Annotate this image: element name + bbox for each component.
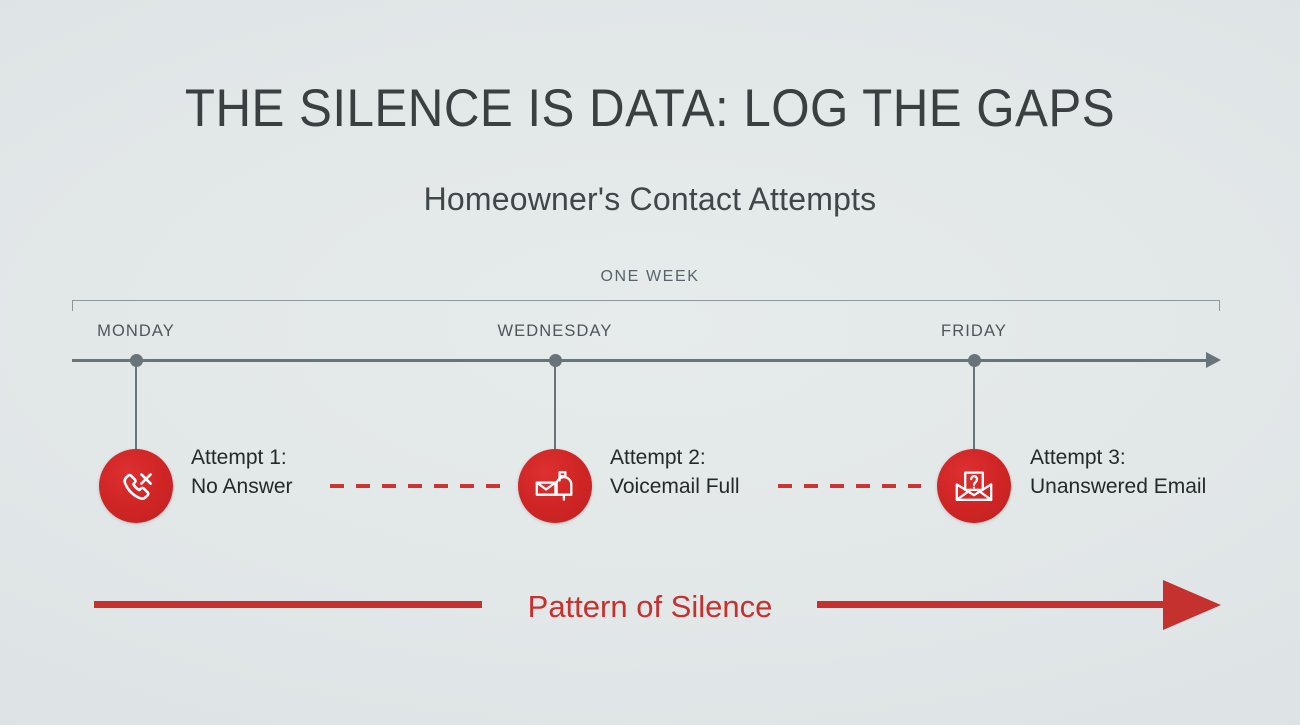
attempt-marker-2[interactable] — [518, 449, 592, 523]
day-label-monday: MONDAY — [97, 322, 175, 341]
timeline-span-label: ONE WEEK — [0, 268, 1300, 286]
attempt-marker-3[interactable] — [937, 449, 1011, 523]
timeline-drop-line-monday — [135, 361, 137, 450]
infographic-canvas: THE SILENCE IS DATA: LOG THE GAPS Homeow… — [0, 0, 1300, 725]
dashed-connector-1 — [330, 484, 512, 488]
attempt-label-2: Attempt 2: Voicemail Full — [610, 443, 740, 501]
timeline-span-bracket — [72, 300, 1220, 311]
page-subtitle: Homeowner's Contact Attempts — [0, 181, 1300, 218]
dashed-connector-2 — [778, 484, 921, 488]
attempt-label-1-line1: Attempt 1: — [191, 446, 287, 469]
attempt-label-3-line1: Attempt 3: — [1030, 446, 1126, 469]
attempt-label-3: Attempt 3: Unanswered Email — [1030, 443, 1206, 501]
timeline-drop-line-friday — [973, 361, 975, 450]
timeline-drop-line-wednesday — [554, 361, 556, 450]
attempt-label-1: Attempt 1: No Answer — [191, 443, 293, 501]
timeline-axis-arrow-icon — [1206, 352, 1221, 368]
pattern-banner-label: Pattern of Silence — [0, 589, 1300, 625]
attempt-label-3-line2: Unanswered Email — [1030, 472, 1206, 501]
attempt-label-1-line2: No Answer — [191, 472, 293, 501]
day-label-wednesday: WEDNESDAY — [497, 322, 612, 341]
page-title: THE SILENCE IS DATA: LOG THE GAPS — [46, 78, 1255, 139]
attempt-label-2-line2: Voicemail Full — [610, 472, 740, 501]
timeline-axis — [72, 359, 1212, 362]
attempt-label-2-line1: Attempt 2: — [610, 446, 706, 469]
day-label-friday: FRIDAY — [941, 322, 1007, 341]
attempt-marker-1[interactable] — [99, 449, 173, 523]
